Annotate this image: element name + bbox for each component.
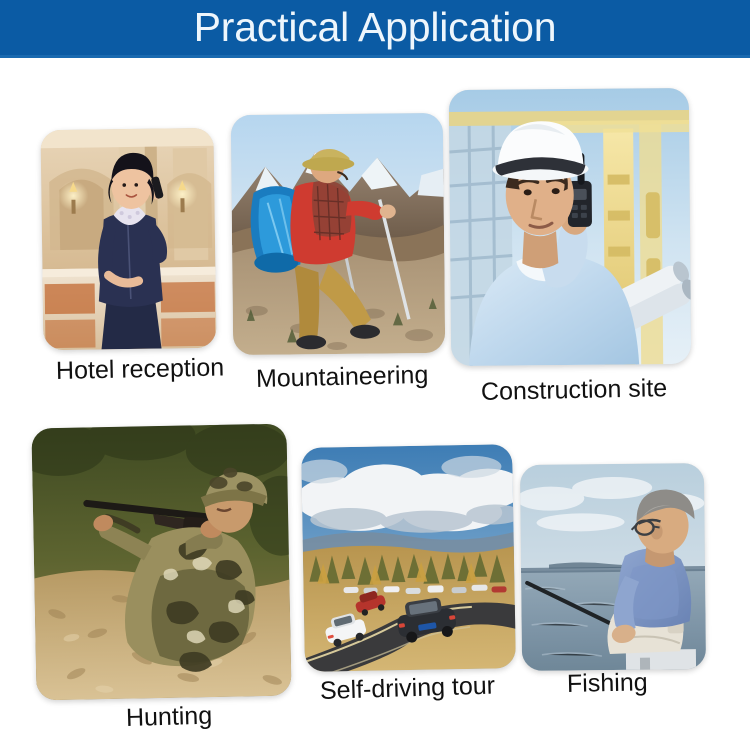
gallery-card-construction-site[interactable] (449, 88, 691, 366)
header-underline (0, 55, 750, 58)
practical-application-poster: Practical Application (0, 0, 750, 750)
gallery-card-self-driving-tour[interactable] (301, 444, 516, 672)
hotel-reception-photo (40, 128, 216, 350)
gallery-card-hunting[interactable] (31, 424, 291, 701)
page-title: Practical Application (0, 1, 750, 54)
mountaineering-photo (231, 113, 446, 355)
caption-hotel-reception: Hotel reception (56, 352, 225, 386)
caption-self-driving-tour: Self-driving tour (320, 671, 496, 706)
hunting-photo (31, 424, 291, 701)
gallery-card-hotel-reception[interactable] (40, 128, 216, 350)
caption-construction-site: Construction site (481, 373, 668, 407)
caption-hunting: Hunting (126, 701, 213, 733)
self-driving-tour-photo (301, 444, 516, 672)
caption-mountaineering: Mountaineering (256, 360, 429, 394)
fishing-photo (520, 463, 706, 671)
gallery-card-mountaineering[interactable] (231, 113, 446, 355)
gallery-card-fishing[interactable] (520, 463, 706, 671)
caption-fishing: Fishing (567, 667, 648, 699)
construction-site-photo (449, 88, 691, 366)
